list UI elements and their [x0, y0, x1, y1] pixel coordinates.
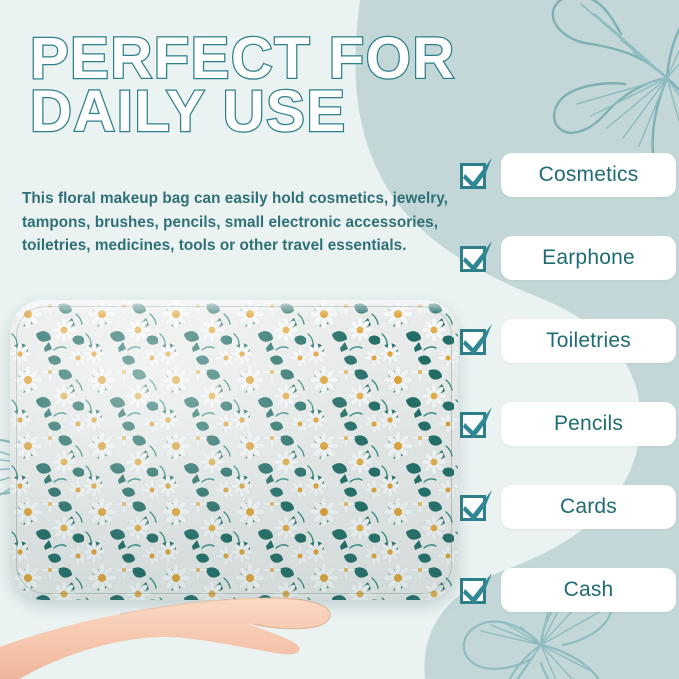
checklist-item-label: Cards [560, 495, 617, 519]
checkbox-checked-icon[interactable] [460, 246, 486, 272]
feature-checklist: Cosmetics Earphone Toiletries Pe [460, 157, 679, 655]
checklist-item-pencils[interactable]: Pencils [460, 406, 679, 489]
checklist-item-label: Toiletries [546, 329, 631, 353]
hand-holding-bag [0, 562, 390, 679]
checklist-label-pill[interactable]: Earphone [501, 236, 676, 280]
checkbox-checked-icon[interactable] [460, 163, 486, 189]
checkbox-checked-icon[interactable] [460, 578, 486, 604]
product-marketing-image: PERFECT FOR DAILY USE This floral makeup… [0, 0, 679, 679]
page-title: PERFECT FOR DAILY USE [30, 32, 460, 139]
checklist-item-label: Earphone [542, 246, 635, 270]
headline-line-1: PERFECT FOR [30, 32, 460, 85]
checklist-item-cards[interactable]: Cards [460, 489, 679, 572]
checklist-label-pill[interactable]: Cosmetics [501, 153, 676, 197]
checklist-label-pill[interactable]: Cash [501, 568, 676, 612]
makeup-bag-image [10, 300, 458, 600]
checkbox-checked-icon[interactable] [460, 329, 486, 355]
checklist-label-pill[interactable]: Pencils [501, 402, 676, 446]
checklist-label-pill[interactable]: Cards [501, 485, 676, 529]
checklist-item-label: Pencils [554, 412, 623, 436]
checkbox-checked-icon[interactable] [460, 412, 486, 438]
checklist-item-label: Cash [564, 578, 614, 602]
checklist-item-cosmetics[interactable]: Cosmetics [460, 157, 679, 240]
checklist-label-pill[interactable]: Toiletries [501, 319, 676, 363]
description-text: This floral makeup bag can easily hold c… [22, 187, 454, 257]
checklist-item-cash[interactable]: Cash [460, 572, 679, 655]
product-photo [10, 300, 458, 610]
checklist-item-earphone[interactable]: Earphone [460, 240, 679, 323]
headline-line-2: DAILY USE [30, 85, 460, 138]
checklist-item-toiletries[interactable]: Toiletries [460, 323, 679, 406]
checkbox-checked-icon[interactable] [460, 495, 486, 521]
checklist-item-label: Cosmetics [539, 163, 639, 187]
daisy-pattern [10, 300, 458, 600]
